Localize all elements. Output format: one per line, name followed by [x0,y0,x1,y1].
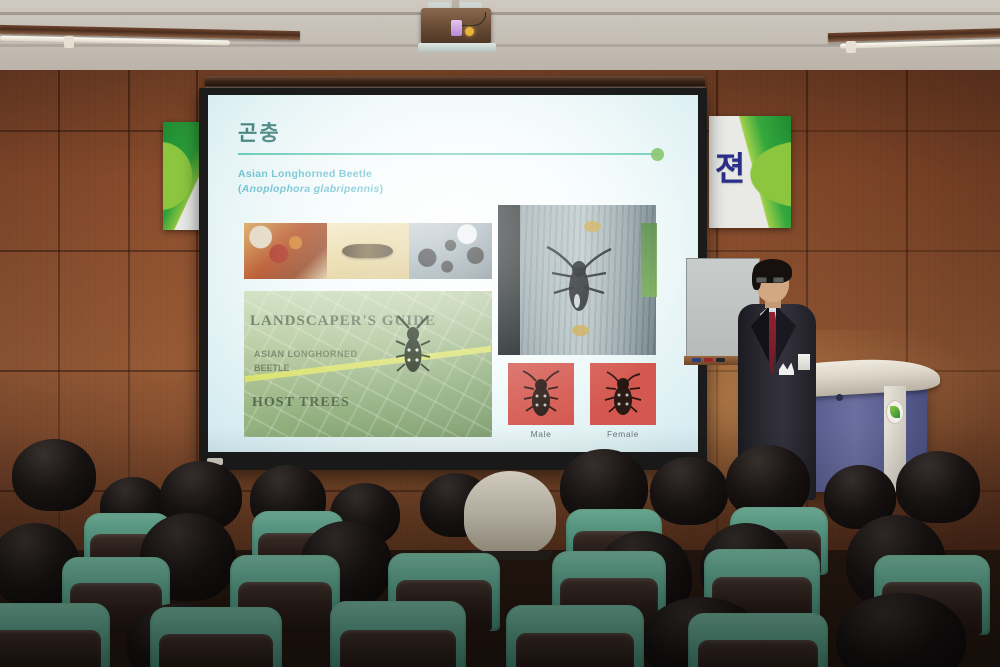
guide-sub3: HOST TREES [252,395,350,411]
green-leaf-icon [890,406,900,418]
marker-red [704,358,713,362]
photo-shadow-edge [498,205,520,355]
auditorium-seat [150,607,282,667]
auditorium-seat [688,613,828,667]
glasses-icon [756,277,784,283]
auditorium-seat [330,601,466,667]
marker-black [716,358,725,362]
male-beetle-icon [521,369,561,419]
lichen-spot [572,325,589,336]
beige-cap [464,471,556,555]
slide: 곤충 Asian Longhorned Beetle (Anoplophora … [208,95,698,452]
female-beetle-panel [590,363,656,425]
slide-title: 곤충 [238,123,672,144]
autumn-maple-leaf-photo [244,223,327,279]
projector-base [418,43,496,52]
auditorium-seat [0,603,110,667]
beetle-silhouette-icon [396,315,430,377]
banner-right-char: 젼 [715,142,745,190]
guide-sub2: BEETLE [254,363,290,373]
projector-lens-icon [451,20,462,36]
marker-blue [692,358,701,362]
lichen-spot [584,221,601,232]
audience-head [650,457,728,525]
slide-subtitle: Asian Longhorned Beetle (Anoplophora gla… [238,167,672,197]
foliage-edge [641,223,657,297]
banner-right: 젼 [709,116,791,228]
slide-title-dot-icon [651,148,664,161]
paren-close: ) [380,183,384,195]
bark-exit-holes-photo [409,223,492,279]
auditorium-seat [506,605,644,667]
projection-screen: 곤충 Asian Longhorned Beetle (Anoplophora … [208,95,698,452]
audience-head [12,439,96,511]
lecture-hall-scene: 젼 곤충 Asian Longhorned Beetle (Anoplophor… [0,0,1000,667]
rail-clip [846,41,856,53]
guide-sub1: ASIAN LONGHORNED [254,349,358,359]
slide-title-rule [238,153,658,155]
projector-lamp-icon [465,27,474,36]
slide-subtitle-common-name: Asian Longhorned Beetle [238,168,372,180]
slide-photo-strip [244,223,492,279]
ceiling-seam [0,12,1000,15]
rail-clip [64,36,74,48]
audience-head [896,451,980,523]
name-badge [798,354,810,370]
male-beetle-panel [508,363,574,425]
audience [0,427,1000,667]
lectern-knob[interactable] [836,394,843,401]
landscapers-guide-cover: LANDSCAPER'S GUIDE ASIAN LONGHORNED BEET… [244,291,492,437]
adult-beetle-on-trunk-photo [508,205,656,355]
slide-subtitle-species: Anoplophora glabripennis [242,183,380,195]
female-beetle-icon [603,369,643,419]
adult-beetle-icon [546,243,612,321]
beetle-larva-photo [327,223,410,279]
